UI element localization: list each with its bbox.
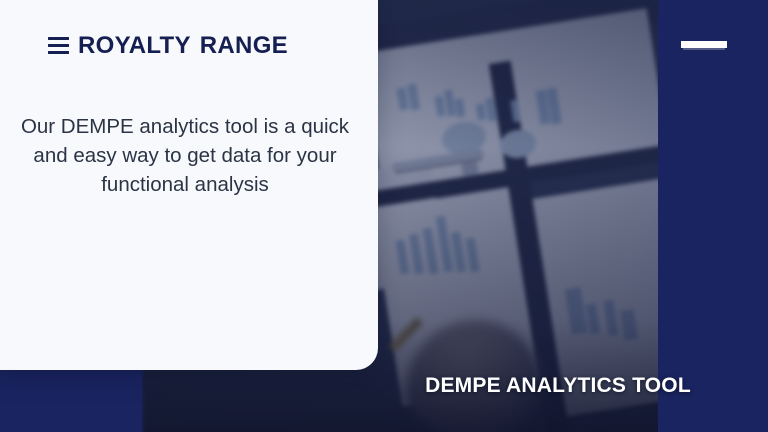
brand-name-part2: RANGE — [200, 32, 288, 59]
brand-name: ROYALTYRANGE — [78, 34, 288, 58]
right-navy-panel — [658, 0, 768, 432]
promo-banner: ROYALTYRANGE Our DEMPE analytics tool is… — [0, 0, 768, 432]
content-card: ROYALTYRANGE Our DEMPE analytics tool is… — [0, 0, 378, 370]
brand-name-part1: ROYALTY — [78, 32, 191, 59]
brand-logo[interactable]: ROYALTYRANGE — [48, 34, 288, 58]
headline-text: Our DEMPE analytics tool is a quick and … — [20, 112, 350, 199]
footer-caption: DEMPE ANALYTICS TOOL — [386, 374, 730, 398]
hamburger-bars-icon — [48, 37, 69, 55]
accent-bar — [681, 41, 727, 48]
bottom-navy-band — [0, 370, 142, 432]
